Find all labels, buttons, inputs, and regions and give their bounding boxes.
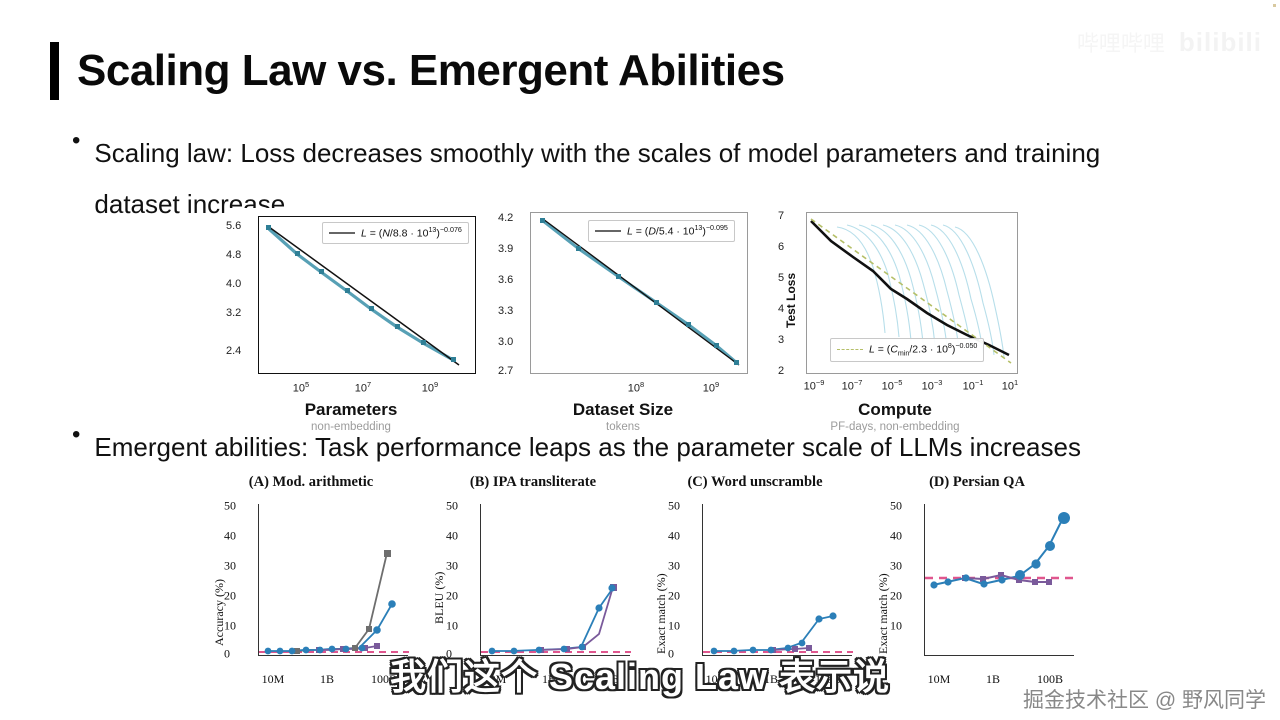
ytick-emergent-d-40: 40 bbox=[890, 529, 920, 544]
xtick-compute-4: 10−1 bbox=[963, 378, 984, 393]
xtick-emergent-c-1: 1B bbox=[764, 672, 778, 687]
ytick-emergent-a-30: 30 bbox=[224, 559, 254, 574]
xtick-dataset-1: 109 bbox=[703, 380, 719, 395]
legend-parameters: L = (N/8.8 · 1013)−0.076 bbox=[322, 222, 469, 244]
xtick-emergent-d-1: 1B bbox=[986, 672, 1000, 687]
title-text: Scaling Law vs. Emergent Abilities bbox=[77, 46, 785, 96]
chart-emergent-a: (A) Mod. arithmetic Accuracy (%) bbox=[200, 474, 422, 702]
legend-compute-label: L = (Cmin/2.3 · 108)−0.050 bbox=[869, 342, 977, 358]
xtick-emergent-d-0: 10M bbox=[928, 672, 951, 687]
plot-svg-emergent-d bbox=[925, 504, 1075, 656]
ytick-emergent-a-40: 40 bbox=[224, 529, 254, 544]
axes-emergent-b bbox=[480, 504, 630, 656]
ytick-dataset-4: 3.0 bbox=[498, 336, 526, 348]
chart-emergent-b-title: (B) IPA transliterate bbox=[422, 474, 644, 491]
ytick-emergent-a-10: 10 bbox=[224, 619, 254, 634]
ytick-emergent-c-50: 50 bbox=[668, 499, 698, 514]
chart-emergent-b: (B) IPA transliterate BLEU (%) bbox=[422, 474, 644, 702]
xtick-parameters-0: 105 bbox=[293, 380, 309, 395]
xtick-compute-3: 10−3 bbox=[922, 378, 943, 393]
emergent-ability-figures: (A) Mod. arithmetic Accuracy (%) bbox=[200, 474, 1200, 702]
ytick-dataset-0: 4.2 bbox=[498, 212, 526, 224]
plot-svg-emergent-b bbox=[481, 504, 631, 656]
corner-artifact bbox=[1273, 4, 1276, 7]
ytick-emergent-b-40: 40 bbox=[446, 529, 476, 544]
ytick-dataset-1: 3.9 bbox=[498, 243, 526, 255]
ytick-emergent-c-10: 10 bbox=[668, 619, 698, 634]
xtick-dataset-0: 108 bbox=[628, 380, 644, 395]
xtick-compute-0: 10−9 bbox=[804, 378, 825, 393]
bottom-watermark: 掘金技术社区 @ 野风同学 bbox=[1023, 684, 1266, 714]
ylabel-emergent-d: Exact match (%) bbox=[876, 573, 891, 654]
plot-svg-emergent-c bbox=[703, 504, 853, 656]
xlabel-compute: Compute bbox=[770, 400, 1020, 420]
plot-svg-emergent-a bbox=[259, 504, 409, 656]
ytick-parameters-2: 4.0 bbox=[226, 278, 254, 290]
ytick-compute-1: 6 bbox=[778, 241, 804, 253]
top-watermark-text: 哔哩哔哩 bbox=[1077, 26, 1165, 58]
ytick-compute-0: 7 bbox=[778, 210, 804, 222]
bullet-emergent-abilities: • Emergent abilities: Task performance l… bbox=[72, 422, 1081, 473]
legend-dashed-swatch-icon bbox=[837, 349, 863, 350]
bilibili-logo-icon: bilibili bbox=[1179, 27, 1262, 58]
ytick-emergent-b-30: 30 bbox=[446, 559, 476, 574]
ytick-compute-5: 2 bbox=[778, 365, 804, 377]
xlabel-dataset: Dataset Size bbox=[498, 400, 748, 420]
ytick-parameters-4: 2.4 bbox=[226, 345, 254, 357]
xtick-emergent-c-2: 100B bbox=[815, 672, 841, 687]
chart-scaling-compute: Test Loss bbox=[770, 208, 1020, 423]
xtick-compute-1: 10−7 bbox=[842, 378, 863, 393]
xtick-emergent-b-0: 10M bbox=[484, 672, 507, 687]
ytick-emergent-c-30: 30 bbox=[668, 559, 698, 574]
bullet-emergent-abilities-text: Emergent abilities: Task performance lea… bbox=[94, 422, 1081, 473]
ytick-dataset-2: 3.6 bbox=[498, 274, 526, 286]
ylabel-emergent-b: BLEU (%) bbox=[432, 572, 447, 624]
xtick-emergent-a-1: 1B bbox=[320, 672, 334, 687]
chart-emergent-d: (D) Persian QA Exact match (%) bbox=[866, 474, 1088, 702]
bullet-marker-icon: • bbox=[72, 128, 80, 154]
ytick-emergent-a-0: 0 bbox=[224, 647, 254, 662]
ytick-emergent-d-20: 20 bbox=[890, 589, 920, 604]
chart-emergent-c: (C) Word unscramble Exact match (%) bbox=[644, 474, 866, 702]
ytick-emergent-b-20: 20 bbox=[446, 589, 476, 604]
ytick-compute-3: 4 bbox=[778, 303, 804, 315]
legend-dataset: L = (D/5.4 · 1013)−0.095 bbox=[588, 220, 735, 242]
ytick-emergent-c-0: 0 bbox=[668, 647, 698, 662]
slide-canvas: Scaling Law vs. Emergent Abilities • Sca… bbox=[0, 0, 1280, 720]
scaling-law-figures: 5.6 4.8 4.0 3.2 2.4 105 107 109 L = (N/8… bbox=[226, 208, 1021, 423]
chart-scaling-parameters: 5.6 4.8 4.0 3.2 2.4 105 107 109 L = (N/8… bbox=[226, 208, 476, 423]
axes-emergent-a bbox=[258, 504, 408, 656]
xtick-parameters-1: 107 bbox=[355, 380, 371, 395]
xlabel-parameters: Parameters bbox=[226, 400, 476, 420]
xtick-emergent-c-0: 10M bbox=[706, 672, 729, 687]
top-watermark: 哔哩哔哩 bilibili bbox=[1077, 26, 1262, 58]
ytick-compute-2: 5 bbox=[778, 272, 804, 284]
xtick-emergent-a-0: 10M bbox=[262, 672, 285, 687]
ytick-emergent-b-0: 0 bbox=[446, 647, 476, 662]
legend-compute: L = (Cmin/2.3 · 108)−0.050 bbox=[830, 338, 984, 362]
xtick-emergent-b-2: 100B bbox=[593, 672, 619, 687]
xtick-compute-2: 10−5 bbox=[882, 378, 903, 393]
legend-parameters-label: L = (N/8.8 · 1013)−0.076 bbox=[361, 226, 462, 240]
ytick-emergent-a-20: 20 bbox=[224, 589, 254, 604]
xtick-compute-5: 101 bbox=[1002, 378, 1018, 393]
legend-line-swatch-icon bbox=[329, 232, 355, 234]
page-title: Scaling Law vs. Emergent Abilities bbox=[50, 42, 785, 100]
xtick-emergent-a-2: 100B bbox=[371, 672, 397, 687]
legend-dataset-label: L = (D/5.4 · 1013)−0.095 bbox=[627, 224, 728, 238]
ylabel-emergent-c: Exact match (%) bbox=[654, 573, 669, 654]
ytick-emergent-b-10: 10 bbox=[446, 619, 476, 634]
axes-emergent-c bbox=[702, 504, 852, 656]
chart-scaling-dataset: 4.2 3.9 3.6 3.3 3.0 2.7 108 109 L = (D/5… bbox=[498, 208, 748, 423]
ytick-parameters-0: 5.6 bbox=[226, 220, 254, 232]
legend-line-swatch-icon bbox=[595, 230, 621, 232]
ytick-dataset-5: 2.7 bbox=[498, 365, 526, 377]
ytick-dataset-3: 3.3 bbox=[498, 305, 526, 317]
ytick-emergent-a-50: 50 bbox=[224, 499, 254, 514]
ytick-emergent-c-40: 40 bbox=[668, 529, 698, 544]
ytick-emergent-d-30: 30 bbox=[890, 559, 920, 574]
bullet-marker-icon: • bbox=[72, 422, 80, 448]
chart-emergent-c-title: (C) Word unscramble bbox=[644, 474, 866, 491]
ytick-emergent-b-50: 50 bbox=[446, 499, 476, 514]
chart-emergent-a-title: (A) Mod. arithmetic bbox=[200, 474, 422, 491]
axes-emergent-d bbox=[924, 504, 1074, 656]
chart-emergent-d-title: (D) Persian QA bbox=[866, 474, 1088, 491]
ytick-emergent-d-10: 10 bbox=[890, 619, 920, 634]
title-accent-bar bbox=[50, 42, 59, 100]
ytick-emergent-c-20: 20 bbox=[668, 589, 698, 604]
xtick-emergent-b-1: 1B bbox=[542, 672, 556, 687]
xtick-parameters-2: 109 bbox=[422, 380, 438, 395]
ytick-parameters-3: 3.2 bbox=[226, 307, 254, 319]
ytick-emergent-d-50: 50 bbox=[890, 499, 920, 514]
ytick-compute-4: 3 bbox=[778, 334, 804, 346]
ytick-parameters-1: 4.8 bbox=[226, 249, 254, 261]
